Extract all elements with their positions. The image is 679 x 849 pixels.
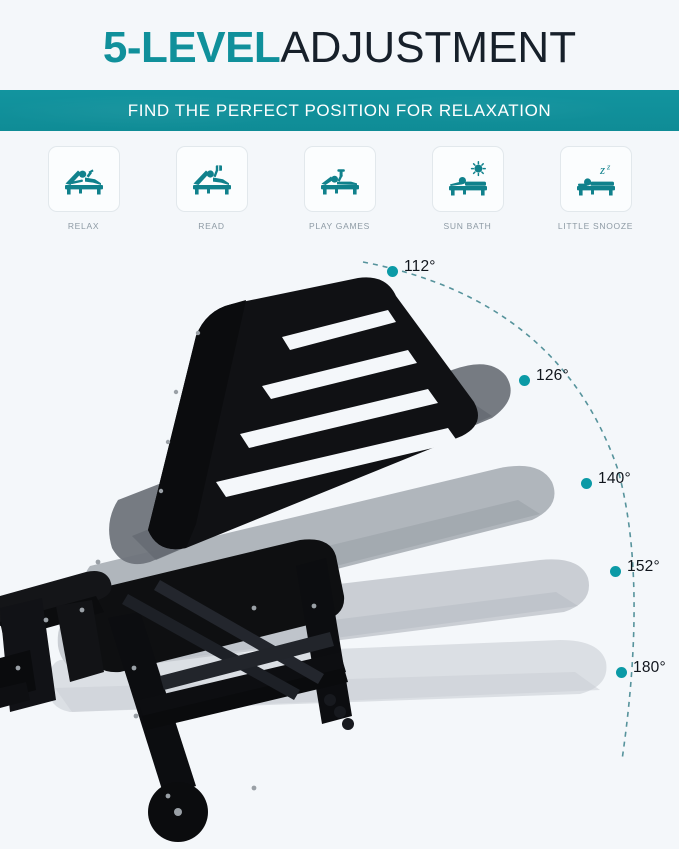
angle-dot-126: [519, 375, 530, 386]
angle-dot-140: [581, 478, 592, 489]
angle-dot-152: [610, 566, 621, 577]
angle-label-126: 126°: [536, 367, 569, 385]
chair-main: [0, 277, 478, 842]
infographic-page: 5-LEVELADJUSTMENT FIND THE PERFECT POSIT…: [0, 0, 679, 849]
product-illustration: [0, 0, 679, 849]
angle-label-140: 140°: [598, 470, 631, 488]
angle-label-180: 180°: [633, 659, 666, 677]
angle-dot-180: [616, 667, 627, 678]
angle-dot-112: [387, 266, 398, 277]
angle-label-112: 112°: [404, 258, 436, 276]
angle-label-152: 152°: [627, 558, 660, 576]
